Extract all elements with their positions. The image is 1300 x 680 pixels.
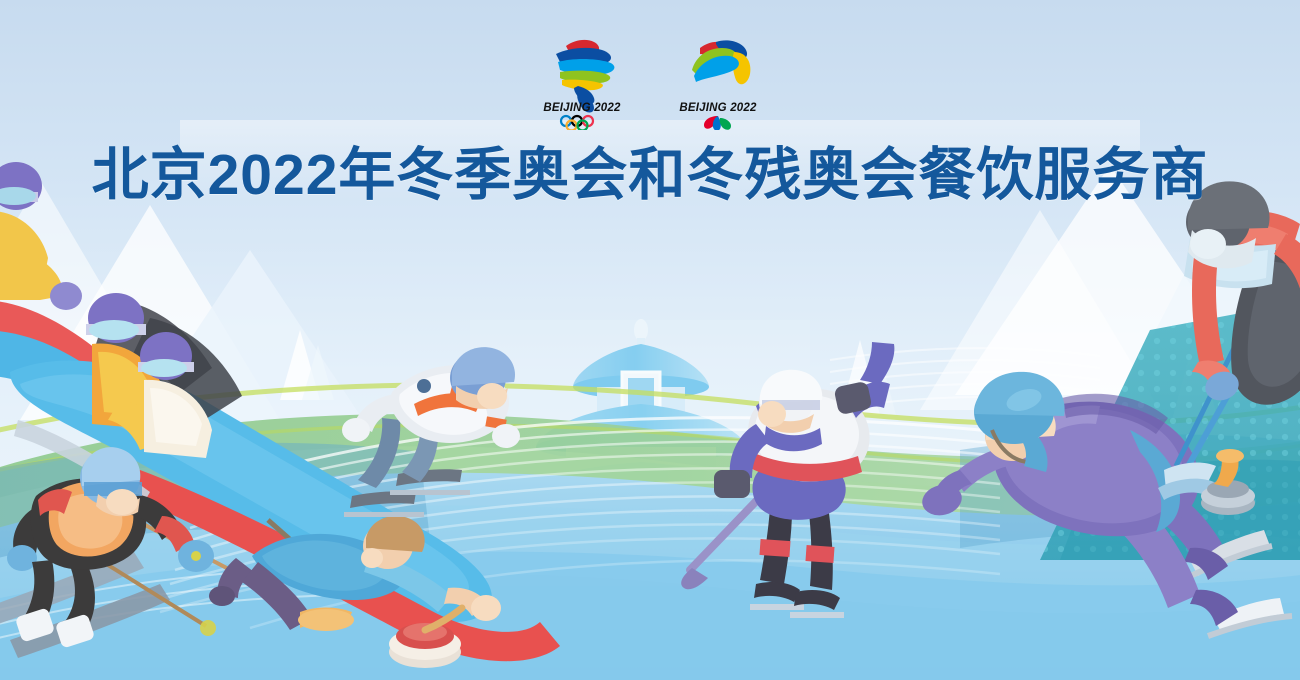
page-title: 北京2022年冬季奥会和冬残奥会餐饮服务商 [0,143,1300,207]
foreground-light-overlay [0,0,1300,680]
beijing-2022-banner: BEIJING 2022 [0,0,1300,680]
